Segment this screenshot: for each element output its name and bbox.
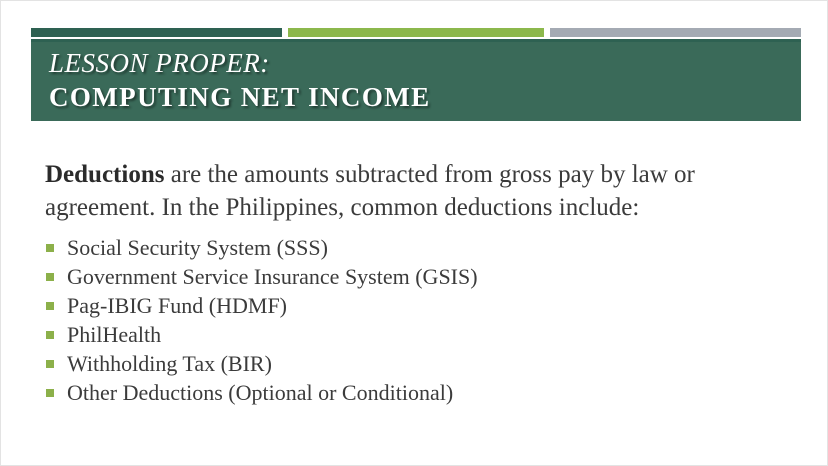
list-item: Pag-IBIG Fund (HDMF) <box>45 291 797 320</box>
list-item: Other Deductions (Optional or Conditiona… <box>45 378 797 407</box>
square-bullet-icon <box>46 273 54 281</box>
list-item: Withholding Tax (BIR) <box>45 349 797 378</box>
gray-rule-icon <box>550 28 801 37</box>
slide-title-band: LESSON PROPER: COMPUTING NET INCOME <box>31 39 801 121</box>
slide-eyebrow-title: LESSON PROPER: <box>49 46 791 80</box>
dark-green-rule-icon <box>31 28 282 37</box>
list-item-label: Social Security System (SSS) <box>67 235 328 260</box>
list-item-label: Other Deductions (Optional or Conditiona… <box>67 380 453 405</box>
slide-body: Deductions are the amounts subtracted fr… <box>45 159 797 407</box>
lead-paragraph: Deductions are the amounts subtracted fr… <box>45 159 775 224</box>
list-item-label: Pag-IBIG Fund (HDMF) <box>67 293 287 318</box>
list-item-label: PhilHealth <box>67 322 161 347</box>
square-bullet-icon <box>46 244 54 252</box>
list-item-label: Withholding Tax (BIR) <box>67 351 272 376</box>
square-bullet-icon <box>46 389 54 397</box>
lead-paragraph-keyword: Deductions <box>45 161 164 188</box>
square-bullet-icon <box>46 360 54 368</box>
deductions-bullet-list: Social Security System (SSS) Government … <box>45 233 797 407</box>
list-item-label: Government Service Insurance System (GSI… <box>67 264 478 289</box>
slide-title-text-group: LESSON PROPER: COMPUTING NET INCOME <box>49 46 791 114</box>
slide-main-title: COMPUTING NET INCOME <box>49 80 791 114</box>
square-bullet-icon <box>46 331 54 339</box>
square-bullet-icon <box>46 302 54 310</box>
list-item: Social Security System (SSS) <box>45 233 797 262</box>
list-item: Government Service Insurance System (GSI… <box>45 262 797 291</box>
slide-canvas: LESSON PROPER: COMPUTING NET INCOME Dedu… <box>0 0 828 466</box>
decorative-rule-group <box>1 28 828 37</box>
light-green-rule-icon <box>288 28 544 37</box>
list-item: PhilHealth <box>45 320 797 349</box>
